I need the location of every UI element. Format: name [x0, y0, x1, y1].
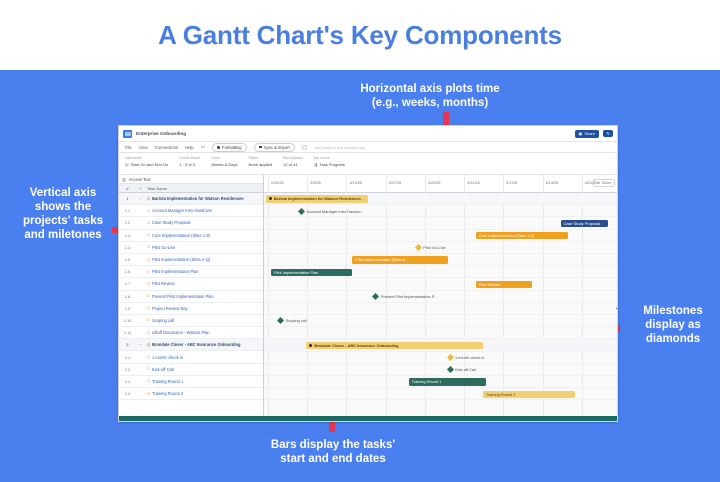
date-tick: 4/21/25	[582, 175, 598, 193]
gantt-bar[interactable]: Training Round 1	[409, 378, 487, 385]
warning-icon: ⚠	[145, 317, 152, 323]
share-button[interactable]: ▣ Share	[575, 130, 599, 138]
task-name[interactable]: Kick-off Call	[152, 367, 263, 372]
callout-line-3: projects' tasks	[8, 214, 118, 228]
row-number: 1.7	[119, 281, 136, 286]
more-icon[interactable]	[302, 145, 307, 150]
task-name[interactable]: Brandale Closer - ABC Insurance Onboardi…	[152, 342, 263, 347]
page-title: A Gantt Chart's Key Components	[158, 20, 562, 51]
col-header-task: Task Name	[145, 186, 263, 191]
table-row[interactable]: 1.9⚠Project Review Day	[119, 303, 263, 315]
warning-icon: ⚠	[145, 196, 152, 202]
slide-page: A Gantt Chart's Key Components Horizonta…	[0, 0, 720, 482]
gantt-bar[interactable]: Case Study Proposal	[561, 220, 609, 227]
filter-value-text: Task Progress	[320, 162, 345, 167]
gantt-grid: ▥ Access Text # + Task Name 1-⚠Barista I…	[119, 175, 617, 422]
callout-line-3: diamonds	[630, 332, 716, 346]
warning-icon: ⚠	[145, 208, 152, 214]
warning-icon: ⚠	[145, 232, 152, 238]
gantt-milestone[interactable]: Pilot Go-Live	[416, 244, 446, 251]
task-list-toolbar: ▥ Access Text	[119, 175, 263, 184]
filter-label: Bars painted	[283, 156, 303, 160]
app-header: Enterprise Onboarding ▣ Share ✎	[119, 126, 617, 142]
task-name[interactable]: Pilot Review	[152, 281, 263, 286]
filter-value: ▤ Start On and End On	[125, 162, 168, 167]
gantt-bar[interactable]: Pilot Implementation Plan	[271, 269, 352, 276]
milestone-label: Scoping call	[286, 318, 307, 323]
milestone-label: Kick-off Call	[455, 367, 476, 372]
warning-icon: ⚠	[145, 342, 152, 348]
date-tick: 4/7/25	[503, 175, 517, 193]
callout-bars: Bars display the tasks' start and end da…	[228, 438, 438, 466]
calendar-icon: ▤	[125, 162, 129, 167]
paint-icon	[217, 146, 220, 149]
app-title: Enterprise Onboarding	[136, 131, 186, 136]
menu-item-view[interactable]: View	[139, 145, 148, 150]
task-name[interactable]: Core Implementation (Sites 1-9)	[152, 233, 263, 238]
row-number: 1.8	[119, 294, 136, 299]
table-row[interactable]: 2.3⚠Training Round 1	[119, 376, 263, 388]
row-number: 1.2	[119, 220, 136, 225]
milestone-label: Pilot Go-Live	[423, 245, 445, 250]
sync-icon	[259, 146, 262, 149]
warning-icon: ⚠	[145, 257, 152, 263]
table-row[interactable]: 1.8⚠Present Pilot Implementation Plan	[119, 291, 263, 303]
gantt-bar[interactable]: Training Round 2	[483, 391, 575, 398]
formatting-label: Formatting	[222, 145, 242, 150]
table-row[interactable]: 1.7⚠Pilot Review	[119, 278, 263, 290]
parent-marker-icon	[269, 197, 272, 200]
callout-line-2: shows the	[8, 200, 118, 214]
table-row[interactable]: 1-⚠Barista Implementation for Watson Res…	[119, 193, 263, 205]
table-row[interactable]: 1.2⚠Case Study Proposal	[119, 217, 263, 229]
gantt-milestone[interactable]: Scoping call	[278, 317, 306, 324]
task-list-column-header: # + Task Name	[119, 184, 263, 193]
date-tick: 3/24/25	[425, 175, 441, 193]
callout-line-4: and miletones	[8, 228, 118, 242]
task-name[interactable]: Training Round 1	[152, 379, 263, 384]
filter-levels-shown[interactable]: Levels shown 1 - 3 of 3	[179, 156, 200, 167]
warning-icon: ⚠	[145, 354, 152, 360]
filter-filters[interactable]: Filters None applied	[249, 156, 273, 167]
filter-label: Filters	[249, 156, 273, 160]
callout-milestones: Milestones display as diamonds	[630, 304, 716, 346]
filter-label: Date fields	[125, 156, 168, 160]
chart-row	[264, 278, 617, 290]
access-text-label: Access Text	[129, 177, 151, 182]
share-label: Share	[584, 131, 595, 136]
row-number: 1.3	[119, 233, 136, 238]
gantt-bar-label: Barista Implementation for Watson Reside…	[274, 195, 361, 202]
filter-value-text: 1 - 3 of 3	[179, 162, 195, 167]
gantt-milestone[interactable]: Kick-off Call	[448, 366, 476, 373]
menu-item-file[interactable]: File	[125, 145, 132, 150]
filter-label: Levels shown	[179, 156, 200, 160]
table-row[interactable]: 1.5⚠Pilot Implementation (Sites A-Q)	[119, 254, 263, 266]
filter-label: Bar colors	[314, 156, 345, 160]
callout-line-2: (e.g., weeks, months)	[330, 96, 530, 110]
chart-row	[264, 352, 617, 364]
diamond-icon	[447, 354, 454, 361]
task-row-list: 1-⚠Barista Implementation for Watson Res…	[119, 193, 263, 400]
row-number: 2.1	[119, 355, 136, 360]
milestone-label: Account Manager Intro Handov...	[307, 209, 364, 214]
callout-line-1: Horizontal axis plots time	[330, 82, 530, 96]
comment-icon[interactable]: ▭	[201, 144, 205, 150]
menu-item-help[interactable]: Help	[185, 145, 194, 150]
sync-import-button[interactable]: Sync & Import	[254, 143, 295, 152]
app-filter-bar: Date fields ▤ Start On and End On Levels…	[119, 153, 617, 175]
warning-icon: ⚠	[145, 330, 152, 336]
column-icon[interactable]: ▥	[122, 177, 126, 182]
filter-value-text: Weeks & Days	[211, 162, 237, 167]
table-row[interactable]: 1.10⚠Scoping call	[119, 315, 263, 327]
task-name[interactable]: Pilot Implementation (Sites A-Q)	[152, 257, 263, 262]
date-tick: 4/14/25	[543, 175, 559, 193]
table-row[interactable]: 2.2⚠Kick-off Call	[119, 364, 263, 376]
filter-date-fields[interactable]: Date fields ▤ Start On and End On	[125, 156, 168, 167]
zoom-label: Zoom	[602, 181, 611, 185]
table-row[interactable]: 1.4⚠Pilot Go-Live	[119, 242, 263, 254]
app-menubar: File View Connections Help ▭ Formatting …	[119, 142, 617, 153]
row-number: 1.5	[119, 257, 136, 262]
table-row[interactable]: 2-⚠Brandale Closer - ABC Insurance Onboa…	[119, 339, 263, 351]
gantt-milestone[interactable]: 1 month check in	[448, 354, 485, 361]
filter-bars-painted[interactable]: Bars painted 12 of 41	[283, 156, 303, 167]
gantt-bar[interactable]: Brandale Closer - ABC Insurance Onboardi…	[306, 342, 483, 349]
task-name[interactable]: Barista Implementation for Watson Reside…	[152, 196, 263, 201]
filter-value-text: 12 of 41	[283, 162, 297, 167]
row-number: 1.4	[119, 245, 136, 250]
warning-icon: ⚠	[145, 281, 152, 287]
row-number: 1.6	[119, 269, 136, 274]
diamond-icon	[277, 317, 284, 324]
warning-icon: ⚠	[145, 293, 152, 299]
diamond-icon	[616, 305, 617, 312]
date-axis-header: ⊕ Zoom 2/24/253/3/253/10/253/17/253/24/2…	[264, 175, 617, 193]
warning-icon: ⚠	[145, 378, 152, 384]
warning-icon: ⚠	[145, 366, 152, 372]
task-name[interactable]: Project Review Day	[152, 306, 263, 311]
milestone-label: Present Pilot Implementation P...	[381, 294, 437, 299]
parent-marker-icon	[309, 344, 312, 347]
callout-line-1: Milestones	[630, 304, 716, 318]
row-number: 1.9	[119, 306, 136, 311]
row-number: 1	[119, 196, 136, 201]
gantt-bars-canvas[interactable]: Barista Implementation for Watson Reside…	[264, 193, 617, 422]
row-expand-toggle[interactable]: -	[136, 342, 145, 347]
edit-pencil-icon[interactable]: ✎	[603, 130, 613, 137]
milestone-label: 1 month check in	[455, 355, 484, 360]
col-header-expand: +	[136, 186, 145, 191]
chart-row	[264, 291, 617, 303]
filter-value-text: None applied	[249, 162, 273, 167]
callout-line-2: display as	[630, 318, 716, 332]
date-tick: 3/17/25	[386, 175, 402, 193]
gantt-chart-pane[interactable]: ⊕ Zoom 2/24/253/3/253/10/253/17/253/24/2…	[264, 175, 617, 422]
filter-value-text: Start On and End On	[131, 162, 168, 167]
diamond-icon	[415, 244, 422, 251]
gantt-milestone[interactable]: Account Manager Intro Handov...	[299, 208, 363, 215]
task-name[interactable]: Case Study Proposal	[152, 220, 263, 225]
formatting-button[interactable]: Formatting	[212, 143, 247, 152]
callout-line-1: Bars display the tasks'	[228, 438, 438, 452]
chart-row	[264, 315, 617, 327]
date-tick: 3/31/25	[464, 175, 480, 193]
task-name[interactable]: Liftoff Discussion - Watson Plan	[152, 330, 263, 335]
task-name[interactable]: Scoping call	[152, 318, 263, 323]
smartsheet-logo-icon	[123, 130, 132, 138]
col-header-num: #	[119, 186, 136, 191]
gantt-bar[interactable]: Pilot Implementation (Sites A-...	[352, 256, 447, 263]
menu-item-connections[interactable]: Connections	[155, 145, 178, 150]
table-row[interactable]: 1.1⚠Account Manager Intro Handover	[119, 205, 263, 217]
gantt-bar[interactable]: Core Implementation (Sites 1-9)	[476, 232, 568, 239]
palette-icon: ◨	[314, 162, 318, 167]
page-title-bar: A Gantt Chart's Key Components	[0, 0, 720, 70]
warning-icon: ⚠	[145, 269, 152, 275]
warning-icon: ⚠	[145, 244, 152, 250]
table-row[interactable]: 1.11⚠Liftoff Discussion - Watson Plan	[119, 327, 263, 339]
app-footer-bar	[119, 416, 617, 421]
row-number: 1.11	[119, 330, 136, 335]
row-number: 2.3	[119, 379, 136, 384]
gantt-milestone[interactable]: Present Pilot Implementation P...	[373, 293, 437, 300]
table-row[interactable]: 1.3⚠Core Implementation (Sites 1-9)	[119, 230, 263, 242]
date-tick: 3/10/25	[346, 175, 362, 193]
row-number: 1.1	[119, 208, 136, 213]
filter-bar-colors[interactable]: Bar colors ◨ Task Progress	[314, 156, 345, 167]
gantt-bar-label: Brandale Closer - ABC Insurance Onboardi…	[314, 342, 398, 349]
diamond-icon	[447, 366, 454, 373]
warning-icon: ⚠	[145, 305, 152, 311]
chart-row	[264, 364, 617, 376]
row-expand-toggle[interactable]: -	[136, 196, 145, 201]
warning-icon: ⚠	[145, 391, 152, 397]
table-row[interactable]: 2.1⚠1 month check in	[119, 351, 263, 363]
filter-zoom[interactable]: Zoom Weeks & Days	[211, 156, 237, 167]
callout-vertical-axis: Vertical axis shows the projects' tasks …	[8, 186, 118, 242]
gantt-app-window[interactable]: Enterprise Onboarding ▣ Share ✎ File Vie…	[118, 125, 618, 422]
task-name[interactable]: Training Round 2	[152, 391, 263, 396]
row-number: 2.2	[119, 367, 136, 372]
row-number: 1.10	[119, 318, 136, 323]
task-list-pane: ▥ Access Text # + Task Name 1-⚠Barista I…	[119, 175, 264, 422]
saved-status: Last saved a few minutes ago	[314, 145, 365, 150]
task-name[interactable]: Present Pilot Implementation Plan	[152, 294, 263, 299]
gantt-bar[interactable]: Pilot Review	[476, 281, 532, 288]
callout-line-1: Vertical axis	[8, 186, 118, 200]
zoom-icon: ⊕	[597, 181, 600, 185]
task-name[interactable]: Pilot Implementation Plan	[152, 269, 263, 274]
task-name[interactable]: Account Manager Intro Handover	[152, 208, 263, 213]
slide-stage: Horizontal axis plots time (e.g., weeks,…	[0, 70, 720, 482]
share-icon: ▣	[579, 131, 583, 136]
warning-icon: ⚠	[145, 220, 152, 226]
task-name[interactable]: 1 month check in	[152, 355, 263, 360]
row-number: 2.4	[119, 391, 136, 396]
chart-row	[264, 327, 617, 339]
callout-horizontal-axis: Horizontal axis plots time (e.g., weeks,…	[330, 82, 530, 110]
callout-line-2: start and end dates	[228, 452, 438, 466]
table-row[interactable]: 2.4⚠Training Round 2	[119, 388, 263, 400]
row-number: 2	[119, 342, 136, 347]
filter-label: Zoom	[211, 156, 237, 160]
gantt-bar[interactable]: Barista Implementation for Watson Reside…	[266, 195, 368, 202]
date-tick: 2/24/25	[268, 175, 284, 193]
date-tick: 3/3/25	[307, 175, 321, 193]
sync-import-label: Sync & Import	[264, 145, 290, 150]
chart-row	[264, 303, 617, 315]
task-name[interactable]: Pilot Go-Live	[152, 245, 263, 250]
diamond-icon	[298, 208, 305, 215]
diamond-icon	[372, 293, 379, 300]
table-row[interactable]: 1.6⚠Pilot Implementation Plan	[119, 266, 263, 278]
